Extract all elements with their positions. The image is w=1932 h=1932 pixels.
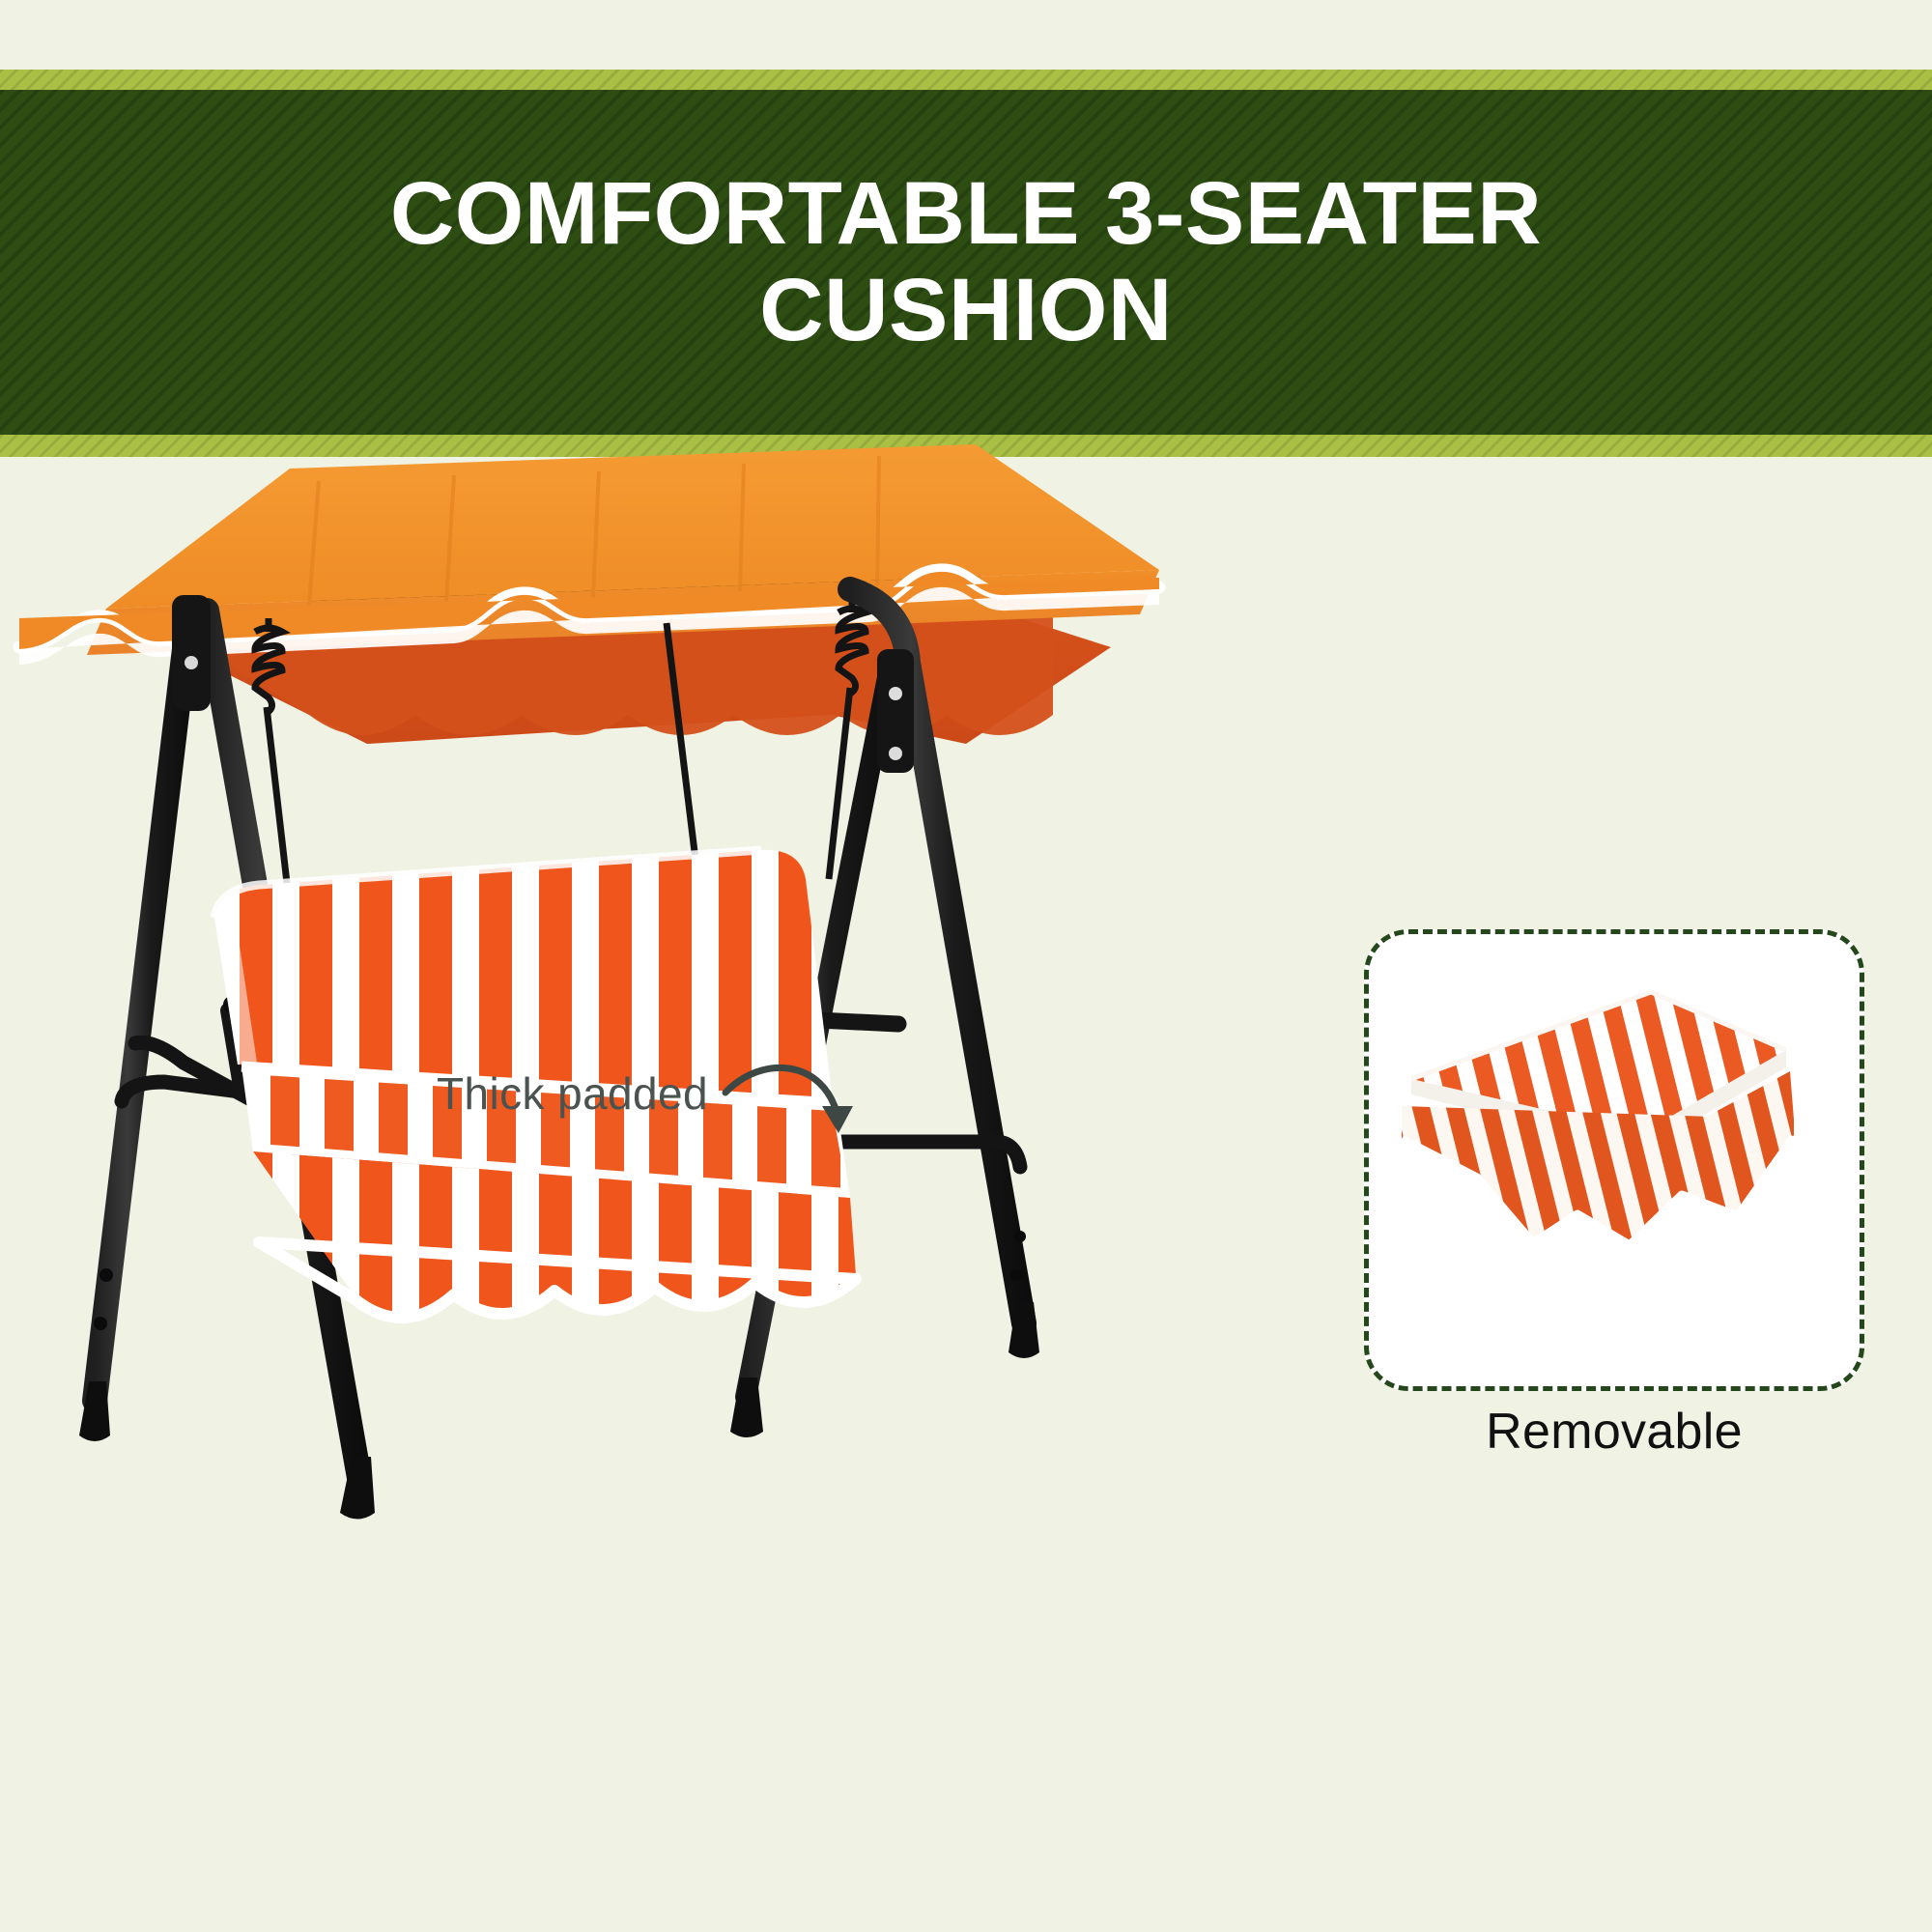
headline-line-2: CUSHION xyxy=(759,264,1173,358)
headline-banner: COMFORTABLE 3-SEATER CUSHION xyxy=(0,70,1932,457)
thick-padded-label: Thick padded xyxy=(437,1067,708,1120)
folded-striped-cushion-icon xyxy=(1402,992,1794,1245)
curved-arrow-down-right-icon xyxy=(720,1058,855,1164)
poster-canvas: COMFORTABLE 3-SEATER CUSHION xyxy=(0,0,1932,1932)
page-title: COMFORTABLE 3-SEATER CUSHION xyxy=(0,90,1932,435)
banner-top-stripe xyxy=(0,70,1932,90)
removable-callout-box xyxy=(1364,929,1864,1391)
headline-line-1: COMFORTABLE 3-SEATER xyxy=(390,167,1542,262)
removable-label: Removable xyxy=(1364,1403,1864,1461)
product-image xyxy=(0,425,1372,1932)
